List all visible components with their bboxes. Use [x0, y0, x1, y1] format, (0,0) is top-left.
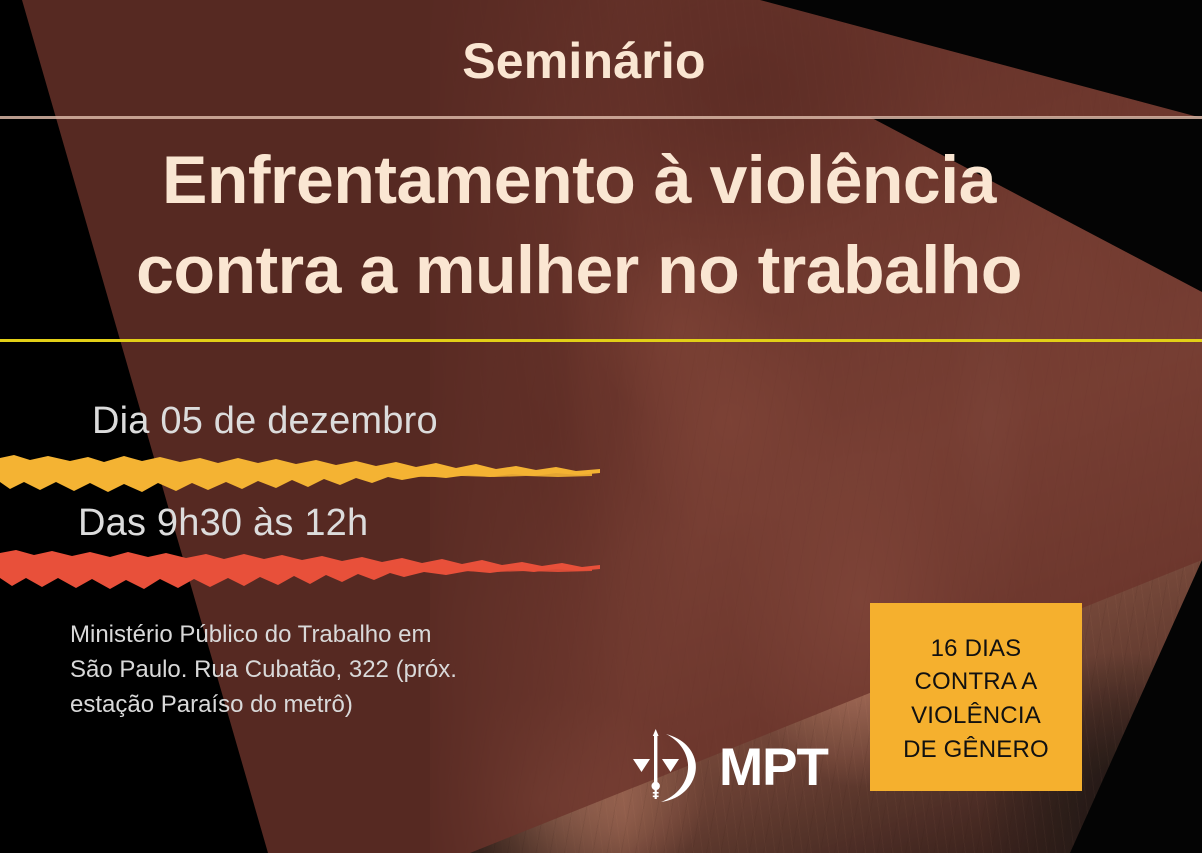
campaign-poster: Seminário Enfrentamento à violência cont…: [0, 0, 1202, 853]
red-brush-stroke-icon: [0, 548, 600, 592]
venue-line-1: Ministério Público do Trabalho em: [70, 617, 490, 652]
venue-line-3: estação Paraíso do metrô): [70, 687, 490, 722]
badge-line-3: VIOLÊNCIA: [911, 700, 1041, 732]
light-divider-icon: [0, 116, 1202, 119]
mpt-wordmark: MPT: [719, 741, 828, 794]
badge-line-4: DE GÊNERO: [903, 734, 1049, 766]
headline-line-1: Enfrentamento à violência: [0, 136, 1158, 226]
mpt-logo: MPT: [625, 728, 828, 806]
event-time: Das 9h30 às 12h: [78, 502, 368, 545]
gold-divider-icon: [0, 339, 1202, 342]
venue-line-2: São Paulo. Rua Cubatão, 322 (próx.: [70, 652, 490, 687]
badge-line-1: 16 DIAS: [931, 633, 1022, 665]
poster-kicker: Seminário: [0, 36, 1168, 86]
yellow-brush-stroke-icon: [0, 452, 600, 496]
headline-line-2: contra a mulher no trabalho: [0, 226, 1158, 316]
campaign-badge: 16 DIAS CONTRA A VIOLÊNCIA DE GÊNERO: [870, 603, 1082, 791]
badge-line-2: CONTRA A: [915, 666, 1038, 698]
event-venue: Ministério Público do Trabalho em São Pa…: [70, 617, 490, 722]
poster-headline: Enfrentamento à violência contra a mulhe…: [0, 136, 1158, 316]
mpt-sword-crescent-icon: [625, 728, 715, 806]
event-date: Dia 05 de dezembro: [92, 400, 438, 443]
